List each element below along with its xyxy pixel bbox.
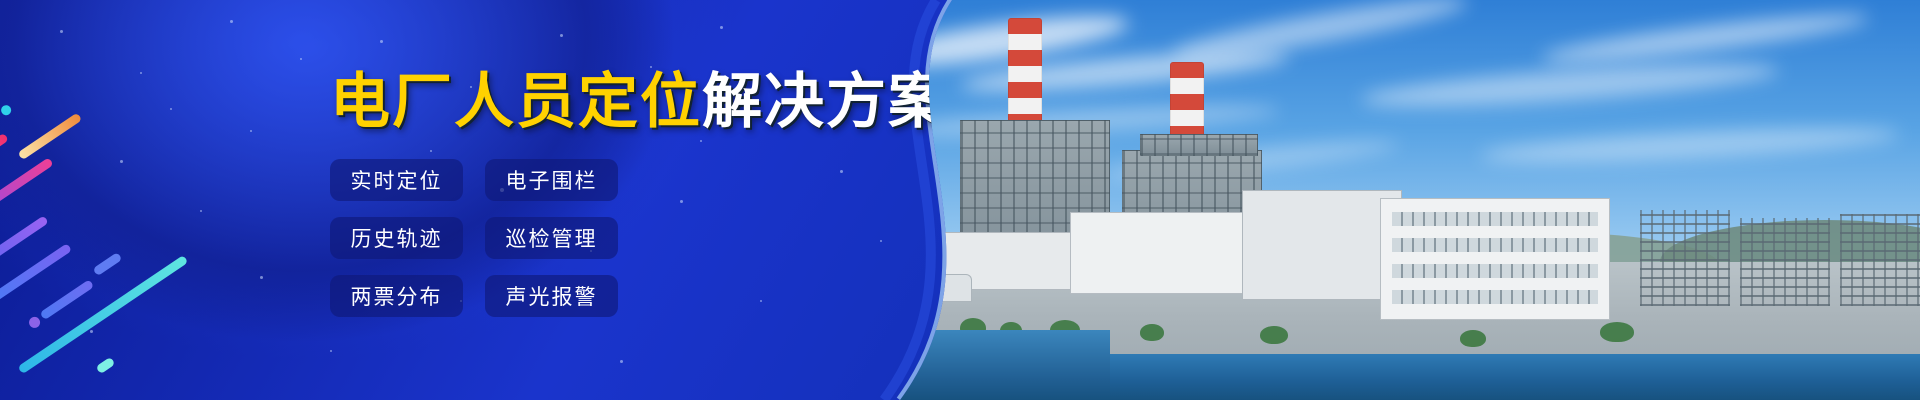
boiler-steel-frame <box>1140 134 1258 156</box>
feature-tag-audible-visual-alarm[interactable]: 声光报警 <box>485 275 618 317</box>
tree <box>1460 330 1486 347</box>
tree <box>1260 326 1288 344</box>
switchyard-pylon <box>1740 218 1830 306</box>
solution-banner: 电厂人员定位解决方案 实时定位 电子围栏 历史轨迹 巡检管理 两票分布 声光报警 <box>0 0 1920 400</box>
feature-tag-list: 实时定位 电子围栏 历史轨迹 巡检管理 两票分布 声光报警 <box>330 159 770 317</box>
streak-violet <box>92 252 122 276</box>
switchyard-pylon <box>1640 210 1730 306</box>
switchyard-pylon <box>1840 214 1920 306</box>
power-plant-photo <box>840 0 1920 400</box>
feature-tag-two-ticket-distribution[interactable]: 两票分布 <box>330 275 463 317</box>
feature-tag-realtime-location[interactable]: 实时定位 <box>330 159 463 201</box>
blue-content-panel: 电厂人员定位解决方案 实时定位 电子围栏 历史轨迹 巡检管理 两票分布 声光报警 <box>0 0 1000 400</box>
streak-violet <box>39 279 94 320</box>
page-title-rest: 解决方案 <box>702 68 950 135</box>
plant-building <box>1070 212 1260 294</box>
feature-tag-history-track[interactable]: 历史轨迹 <box>330 217 463 259</box>
streak-cyan-dot <box>0 103 13 117</box>
streak-purple-dot <box>27 315 42 330</box>
streak-aqua <box>95 357 115 375</box>
feature-tag-electronic-fence[interactable]: 电子围栏 <box>485 159 618 201</box>
window-row <box>1392 264 1598 278</box>
window-row <box>1392 238 1598 252</box>
streak-magenta <box>0 157 54 226</box>
tree <box>1600 322 1634 342</box>
page-title: 电厂人员定位解决方案 <box>330 70 950 133</box>
plant-building <box>1242 190 1402 300</box>
streak-pink <box>0 133 9 178</box>
page-title-highlight: 电厂人员定位 <box>330 68 702 135</box>
streak-violet <box>0 243 72 304</box>
window-row <box>1392 290 1598 304</box>
banner-content: 电厂人员定位解决方案 实时定位 电子围栏 历史轨迹 巡检管理 两票分布 声光报警 <box>330 70 950 317</box>
tree <box>1140 324 1164 341</box>
streak-orange <box>17 113 82 161</box>
window-row <box>1392 212 1598 226</box>
feature-tag-inspection-management[interactable]: 巡检管理 <box>485 217 618 259</box>
